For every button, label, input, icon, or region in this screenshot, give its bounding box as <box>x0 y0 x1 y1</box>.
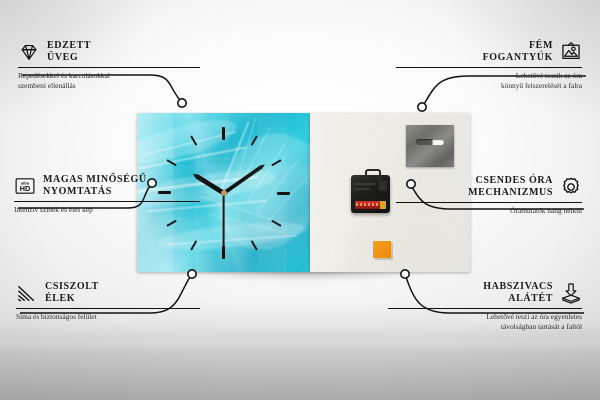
feature-tempered-glass[interactable]: EDZETT ÜVEG Repedésekkel és karcolásokka… <box>18 40 218 90</box>
clock-mechanism <box>351 175 390 213</box>
mechanism-lug <box>365 169 381 181</box>
clock-minute-hand <box>222 162 265 194</box>
diamond-icon <box>18 41 40 63</box>
ultra-hd-icon: ultra HD <box>14 175 36 197</box>
feature-rule <box>14 201 200 202</box>
infographic-canvas: EDZETT ÜVEG Repedésekkel és karcolásokka… <box>0 0 600 400</box>
battery-label-stripe <box>356 203 378 206</box>
battery <box>355 201 386 209</box>
feature-rule <box>396 202 582 203</box>
battery-positive-terminal <box>380 201 386 209</box>
feature-title-line2: ÜVEG <box>47 52 91 64</box>
feature-title-line2: FOGANTYÚK <box>483 52 553 64</box>
feature-title-line1: HABSZIVACS <box>483 281 553 293</box>
feature-title-line2: NYOMTATÁS <box>43 186 147 198</box>
feature-title-line1: FÉM <box>483 40 553 52</box>
feature-title-line2: ALÁTÉT <box>483 293 553 305</box>
feature-silent-mechanism[interactable]: CSENDES ÓRA MECHANIZMUS Óramutatók hang … <box>392 175 582 216</box>
feature-subtitle-line1: Óramutatók hang nélkül <box>392 206 582 216</box>
foam-pad-icon <box>560 282 582 304</box>
feature-polished-edges[interactable]: CSISZOLT ÉLEK Sima és biztonságos felüle… <box>16 281 216 322</box>
feature-title-line1: MAGAS MINŐSÉGŰ <box>43 174 147 186</box>
feature-subtitle-line2: könnyű felszerelését a falra <box>392 81 582 91</box>
feature-rule <box>388 308 582 309</box>
feature-subtitle-line1: Lehetővé teszi az óra egyenletes <box>384 312 582 322</box>
foam-pad <box>373 241 391 258</box>
feature-metal-hangers[interactable]: FÉM FOGANTYÚK Lehetővé teszik az óra kön… <box>392 40 582 90</box>
polished-edge-icon <box>16 282 38 304</box>
feature-rule <box>16 308 200 309</box>
feature-subtitle-line1: Intenzív színek és éles kép <box>14 205 224 215</box>
picture-hanger-icon <box>560 41 582 63</box>
feature-title-line1: EDZETT <box>47 40 91 52</box>
feature-subtitle-line1: Sima és biztonságos felület <box>16 312 216 322</box>
feature-subtitle-line1: Repedésekkel és karcolásokkal <box>18 71 218 81</box>
feature-rule <box>396 67 582 68</box>
mechanism-groove <box>354 183 376 185</box>
feature-title-line2: ÉLEK <box>45 293 99 305</box>
feature-rule <box>18 67 200 68</box>
mechanism-tab <box>379 181 387 191</box>
metal-hanger-plate <box>406 125 454 167</box>
feature-subtitle-line2: szembeni ellenállás <box>18 81 218 91</box>
feature-title-line2: MECHANIZMUS <box>468 187 553 199</box>
mechanism-groove <box>354 188 370 190</box>
feature-title-line1: CSISZOLT <box>45 281 99 293</box>
feature-subtitle-line1: Lehetővé teszik az óra <box>392 71 582 81</box>
feature-title-line1: CSENDES ÓRA <box>468 175 553 187</box>
hanger-slot <box>416 139 444 145</box>
svg-text:HD: HD <box>20 184 30 193</box>
feature-subtitle-line2: távolságban tartását a faltól <box>384 322 582 332</box>
gear-icon <box>560 176 582 198</box>
feature-high-quality-print[interactable]: ultra HD MAGAS MINŐSÉGŰ NYOMTATÁS Intenz… <box>14 174 224 215</box>
feature-foam-pad[interactable]: HABSZIVACS ALÁTÉT Lehetővé teszi az óra … <box>384 281 582 331</box>
